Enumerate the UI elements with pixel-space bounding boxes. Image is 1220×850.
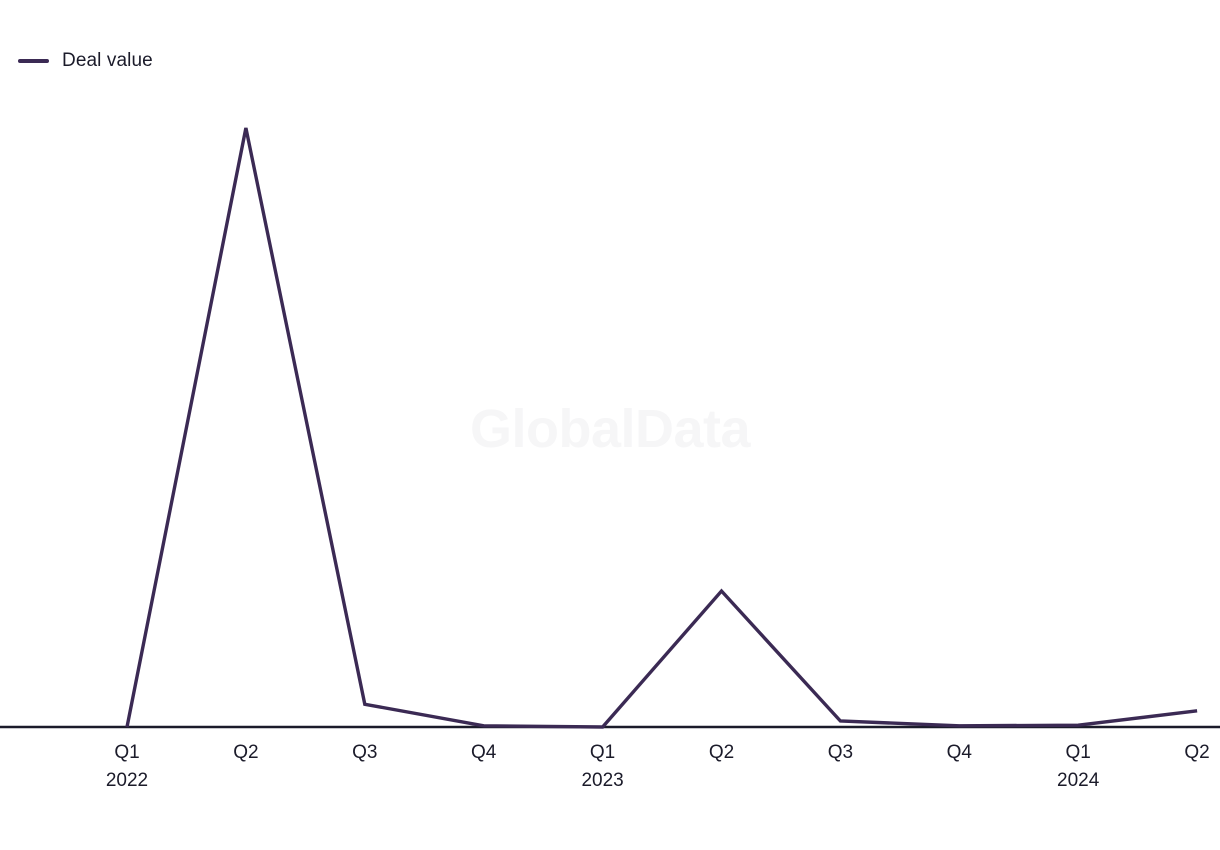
plot-area xyxy=(0,0,1220,740)
tick-quarter-label: Q2 xyxy=(657,740,787,766)
deal-value-line-chart: Deal value GlobalData Q12022Q2Q3Q4Q12023… xyxy=(0,0,1220,850)
tick-quarter-label: Q2 xyxy=(1132,740,1220,766)
x-axis-tick-q3-2022: Q3 xyxy=(300,740,430,766)
x-axis-tick-q3-2023: Q3 xyxy=(775,740,905,766)
x-axis-tick-q2-2023: Q2 xyxy=(657,740,787,766)
tick-quarter-label: Q2 xyxy=(181,740,311,766)
tick-quarter-label: Q1 xyxy=(62,740,192,766)
tick-quarter-label: Q3 xyxy=(775,740,905,766)
x-axis-labels: Q12022Q2Q3Q4Q12023Q2Q3Q4Q12024Q2 xyxy=(0,740,1220,830)
plot-svg xyxy=(0,0,1220,740)
x-axis-tick-q1-2024: Q12024 xyxy=(1013,740,1143,796)
tick-year-label: 2022 xyxy=(62,766,192,796)
tick-quarter-label: Q1 xyxy=(1013,740,1143,766)
tick-year-label: 2023 xyxy=(538,766,668,796)
tick-year-label: 2024 xyxy=(1013,766,1143,796)
series-line-deal-value xyxy=(127,128,1197,727)
tick-quarter-label: Q1 xyxy=(538,740,668,766)
tick-quarter-label: Q4 xyxy=(419,740,549,766)
x-axis-tick-q1-2023: Q12023 xyxy=(538,740,668,796)
x-axis-tick-q2-2022: Q2 xyxy=(181,740,311,766)
x-axis-tick-q1-2022: Q12022 xyxy=(62,740,192,796)
x-axis-tick-q4-2023: Q4 xyxy=(894,740,1024,766)
x-axis-tick-q4-2022: Q4 xyxy=(419,740,549,766)
x-axis-tick-q2-2024: Q2 xyxy=(1132,740,1220,766)
tick-quarter-label: Q3 xyxy=(300,740,430,766)
tick-quarter-label: Q4 xyxy=(894,740,1024,766)
